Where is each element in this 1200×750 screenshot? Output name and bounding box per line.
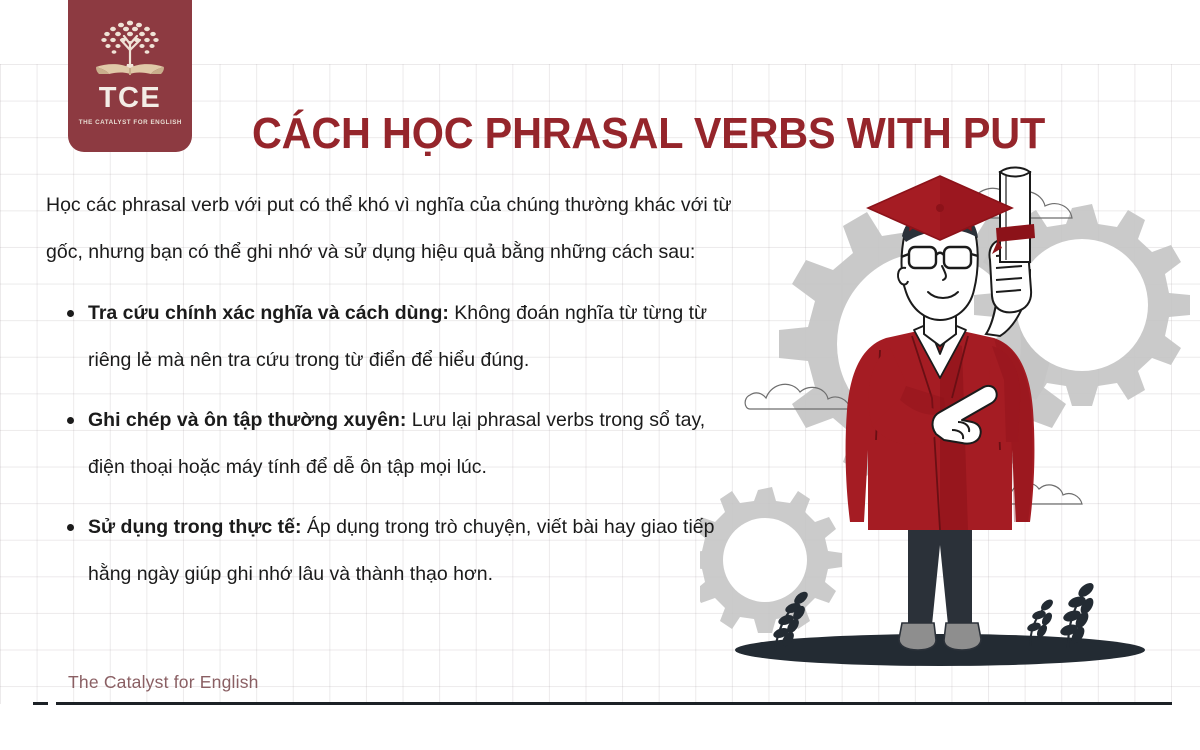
list-item: Sử dụng trong thực tế: Áp dụng trong trò… [46,504,746,598]
tree-over-book-icon [87,16,173,82]
infographic-page: TCE THE CATALYST FOR ENGLISH CÁCH HỌC PH… [0,0,1200,750]
bullet-dot-icon [67,524,74,531]
trousers [908,520,972,625]
tip-term: Ghi chép và ôn tập thường xuyên: [88,409,406,431]
tip-term: Tra cứu chính xác nghĩa và cách dùng: [88,302,449,324]
logo-initials: TCE [99,84,162,113]
article-body: Học các phrasal verb với put có thể khó … [46,182,746,611]
graduate-student-illustration [700,150,1200,710]
footer-dash-mark [33,702,48,705]
footer-brand-text: The Catalyst for English [68,672,259,693]
bullet-dot-icon [67,310,74,317]
tip-term: Sử dụng trong thực tế: [88,516,301,538]
page-title: CÁCH HỌC PHRASAL VERBS WITH PUT [252,111,1032,157]
tips-list: Tra cứu chính xác nghĩa và cách dùng: Kh… [46,290,746,598]
list-item: Ghi chép và ôn tập thường xuyên: Lưu lại… [46,397,746,491]
brand-logo-plaque[interactable]: TCE THE CATALYST FOR ENGLISH [68,0,192,152]
logo-tagline: THE CATALYST FOR ENGLISH [78,119,181,126]
intro-paragraph: Học các phrasal verb với put có thể khó … [46,182,746,276]
list-item: Tra cứu chính xác nghĩa và cách dùng: Kh… [46,290,746,384]
ground-shadow-ellipse [735,634,1145,666]
footer-divider [56,702,1172,705]
bullet-dot-icon [67,417,74,424]
